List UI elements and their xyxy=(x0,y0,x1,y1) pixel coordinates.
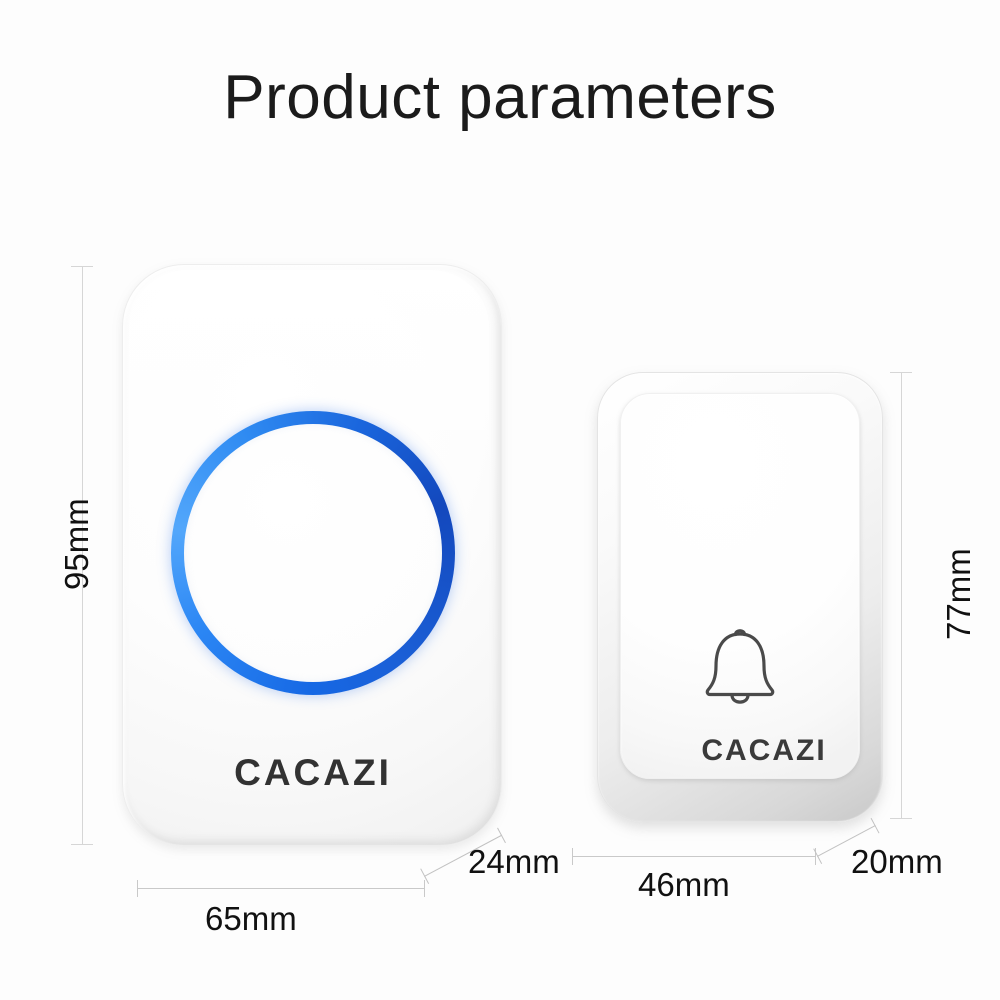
dimension-cap-receiver-depth-end xyxy=(497,828,506,843)
product-receiver: CACAZI xyxy=(122,264,502,846)
receiver-brand-label: CACAZI xyxy=(123,752,503,794)
dimension-line-receiver-width xyxy=(137,888,425,889)
dimension-cap-transmitter-depth-end xyxy=(871,818,880,833)
dimension-label-transmitter-depth: 20mm xyxy=(851,843,943,881)
bell-icon xyxy=(694,622,786,714)
dimension-cap-receiver-height-bottom xyxy=(71,844,93,845)
dimension-label-receiver-depth: 24mm xyxy=(468,843,560,881)
led-ring-icon xyxy=(171,411,455,695)
dimension-label-receiver-width: 65mm xyxy=(205,900,297,938)
dimension-cap-receiver-width-right xyxy=(424,880,425,897)
dimension-line-transmitter-width xyxy=(572,856,816,857)
dimension-cap-transmitter-height-bottom xyxy=(890,818,912,819)
dimension-label-receiver-height: 95mm xyxy=(58,498,96,590)
transmitter-brand-label: CACAZI xyxy=(621,734,907,768)
led-ring-inner-face xyxy=(184,424,442,682)
product-parameters-image: Product parameters 95mm 65mm 24mm 77mm 4… xyxy=(0,0,1000,1000)
product-transmitter: CACAZI xyxy=(597,372,883,822)
dimension-label-transmitter-width: 46mm xyxy=(638,866,730,904)
dimension-label-transmitter-height: 77mm xyxy=(940,548,978,640)
dimension-cap-transmitter-width-left xyxy=(572,848,573,865)
dimension-cap-transmitter-height-top xyxy=(890,372,912,373)
dimension-cap-receiver-height-top xyxy=(71,266,93,267)
page-title: Product parameters xyxy=(0,62,1000,133)
dimension-cap-receiver-width-left xyxy=(137,880,138,897)
transmitter-button-panel: CACAZI xyxy=(620,393,860,779)
